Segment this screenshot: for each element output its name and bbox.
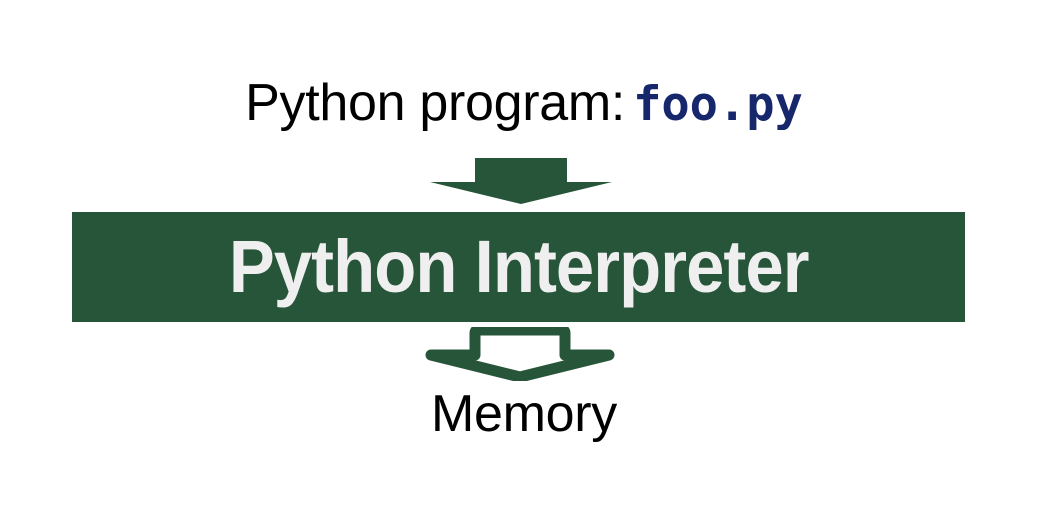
output-caption: Memory — [0, 383, 1048, 445]
input-caption: Python program:foo.py — [0, 72, 1048, 136]
input-label: Python program: — [245, 74, 625, 132]
input-filename: foo.py — [633, 77, 803, 132]
arrow-down-solid-icon — [430, 158, 612, 204]
arrow-down-outline-shape — [425, 327, 615, 381]
python-interpreter-label: Python Interpreter — [229, 229, 809, 305]
output-label: Memory — [431, 385, 617, 443]
diagram-canvas: Python program:foo.py Python Interpreter… — [0, 0, 1048, 521]
arrow-down-outline-icon — [425, 327, 615, 381]
python-interpreter-box: Python Interpreter — [72, 212, 965, 322]
arrow-down-solid-shape — [430, 158, 612, 204]
